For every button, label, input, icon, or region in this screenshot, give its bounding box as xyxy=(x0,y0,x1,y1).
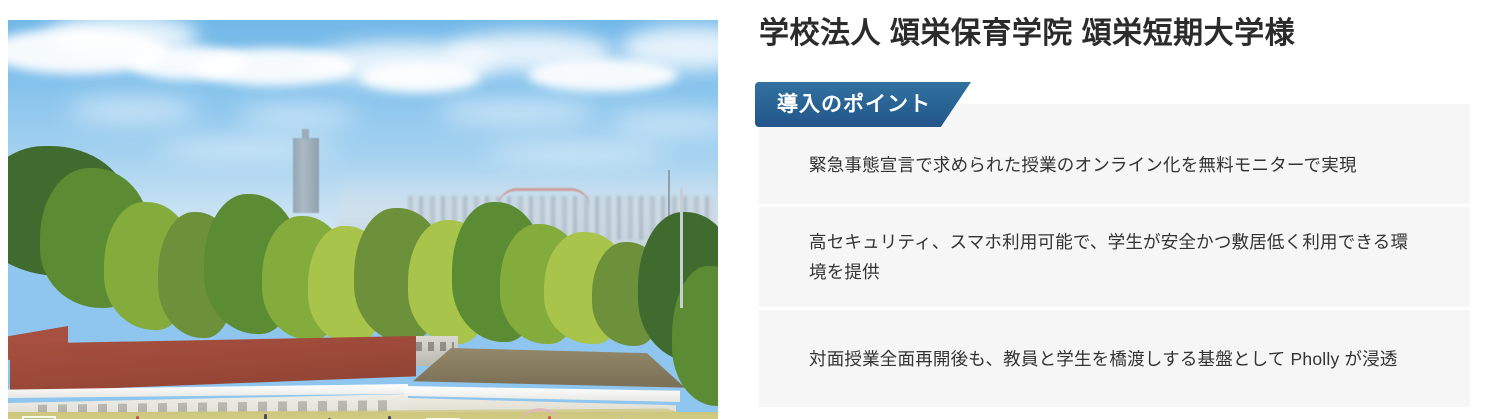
cloud-shape xyxy=(360,62,480,92)
tree-line xyxy=(8,146,718,336)
red-roof-building xyxy=(10,336,416,392)
list-item-text: 対面授業全面再開後も、教員と学生を橋渡しする基盤として Pholly が浸透 xyxy=(809,344,1398,374)
flag-pole xyxy=(680,188,683,308)
list-item: 対面授業全面再開後も、教員と学生を橋渡しする基盤として Pholly が浸透 xyxy=(759,310,1470,407)
case-study-summary: 学校法人 頌栄保育学院 頌栄短期大学様 導入のポイント 緊急事態宣言で求められた… xyxy=(755,0,1500,419)
points-ribbon-label: 導入のポイント xyxy=(755,82,971,127)
cloud-shape xyxy=(438,100,598,124)
case-study-header: 学校法人 頌栄保育学院 頌栄短期大学様 導入のポイント 緊急事態宣言で求められた… xyxy=(0,0,1500,419)
list-item: 高セキュリティ、スマホ利用可能で、学生が安全かつ敷居低く利用できる環境を提供 xyxy=(759,207,1470,307)
list-item-text: 緊急事態宣言で求められた授業のオンライン化を無料モニターで実現 xyxy=(809,150,1357,180)
list-item-text: 高セキュリティ、スマホ利用可能で、学生が安全かつ敷居低く利用できる環境を提供 xyxy=(809,227,1424,287)
person xyxy=(264,414,267,419)
schoolyard xyxy=(8,412,718,419)
cloud-shape xyxy=(68,98,198,122)
campus-photo-scene xyxy=(8,20,718,419)
page-title: 学校法人 頌栄保育学院 頌栄短期大学様 xyxy=(759,14,1295,54)
points-list: 緊急事態宣言で求められた授業のオンライン化を無料モニターで実現 高セキュリティ、… xyxy=(759,104,1470,407)
campus-photo xyxy=(8,20,718,419)
cloud-shape xyxy=(238,106,358,126)
